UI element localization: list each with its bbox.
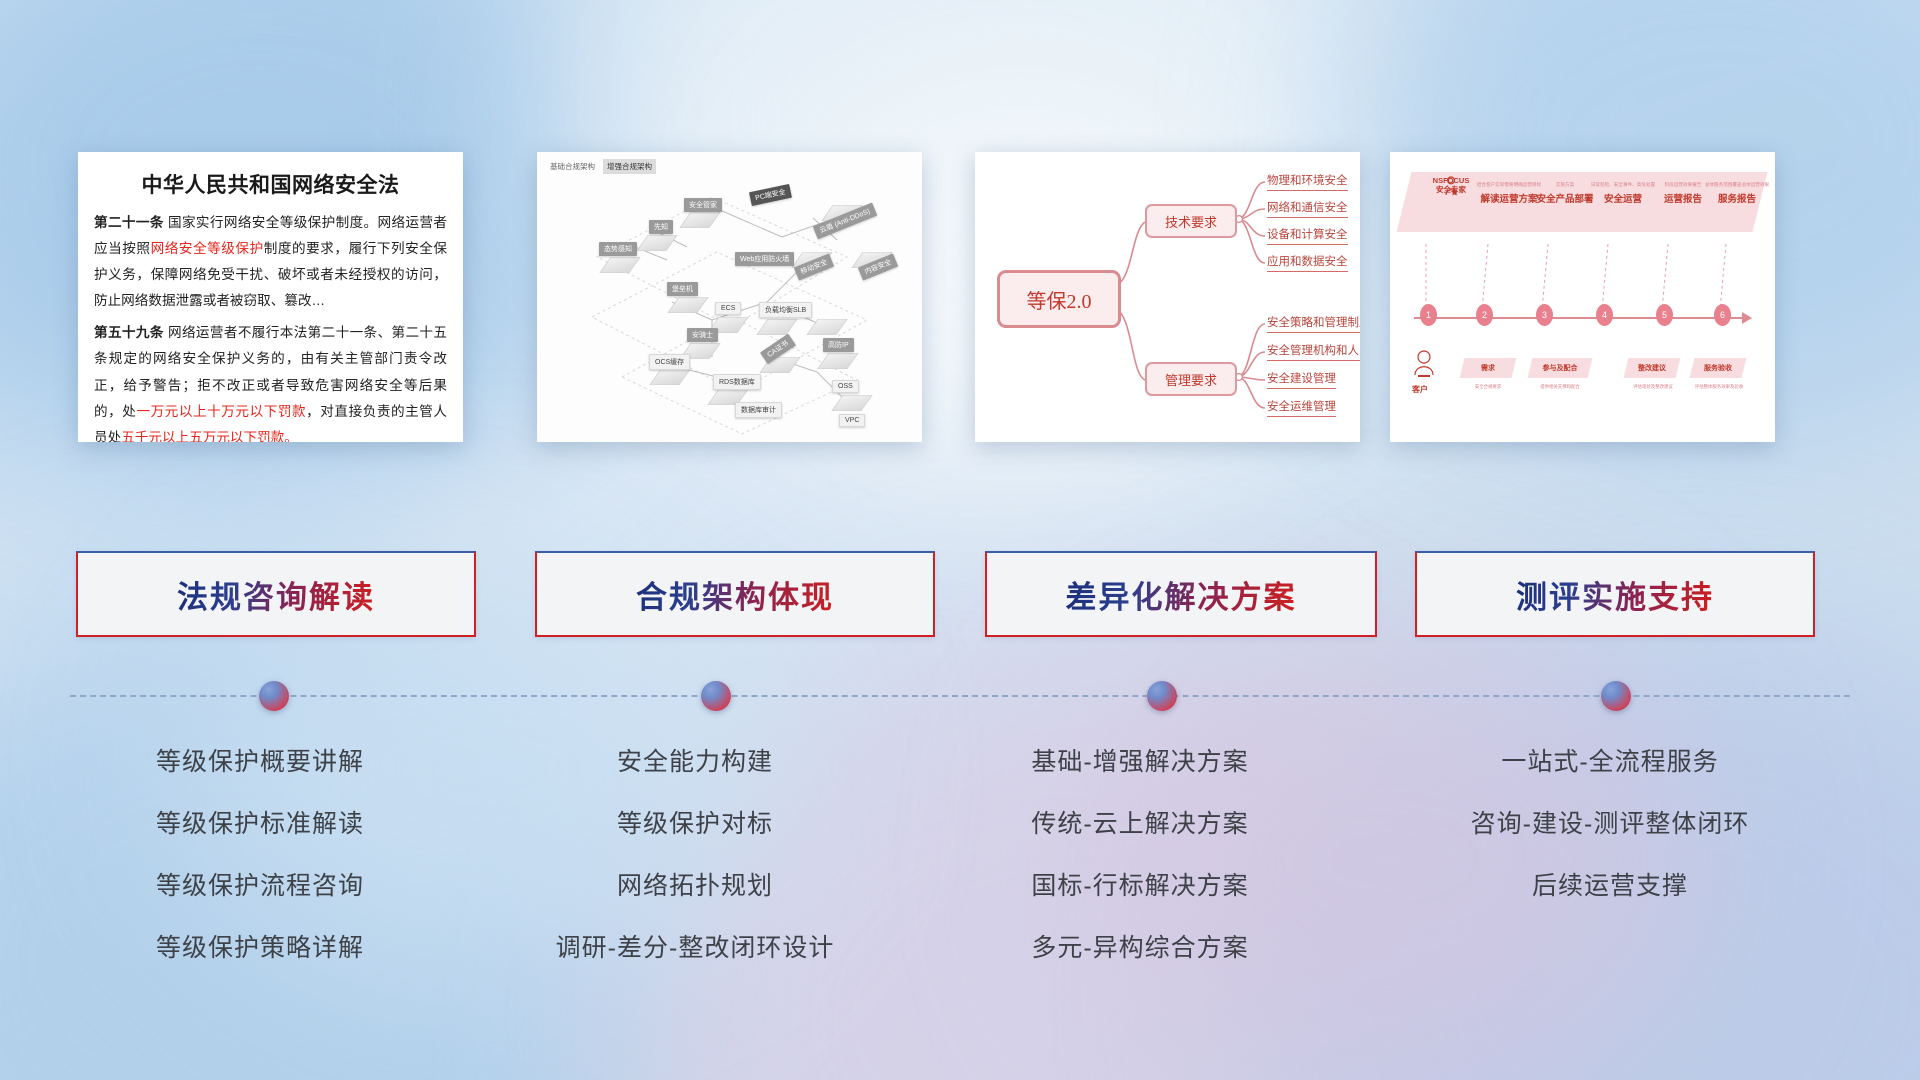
section-item: 多元-异构综合方案 <box>930 928 1350 964</box>
section-item: 等级保护概要讲解 <box>60 742 460 778</box>
section-items-4: 一站式-全流程服务 咨询-建设-测评整体闭环 后续运营支撑 <box>1400 742 1820 928</box>
section-item: 一站式-全流程服务 <box>1400 742 1820 778</box>
section-items-2: 安全能力构建 等级保护对标 网络拓扑规划 调研-差分-整改闭环设计 <box>490 742 900 990</box>
section-item: 咨询-建设-测评整体闭环 <box>1400 804 1820 840</box>
section-headings: 法规咨询解读 合规架构体现 差异化解决方案 测评实施支持 等级保护概要讲解 等级… <box>0 0 1920 1080</box>
timeline-node-3 <box>1147 681 1177 711</box>
section-heading-1-label: 法规咨询解读 <box>177 572 375 617</box>
section-item: 等级保护流程咨询 <box>60 866 460 902</box>
section-item: 传统-云上解决方案 <box>930 804 1350 840</box>
section-items-1: 等级保护概要讲解 等级保护标准解读 等级保护流程咨询 等级保护策略详解 <box>60 742 460 990</box>
section-heading-3-label: 差异化解决方案 <box>1066 572 1297 617</box>
timeline-node-2 <box>701 681 731 711</box>
section-heading-3[interactable]: 差异化解决方案 <box>985 551 1377 637</box>
section-heading-2[interactable]: 合规架构体现 <box>535 551 935 637</box>
section-item: 等级保护标准解读 <box>60 804 460 840</box>
section-heading-4[interactable]: 测评实施支持 <box>1415 551 1815 637</box>
section-heading-1[interactable]: 法规咨询解读 <box>76 551 476 637</box>
section-heading-4-label: 测评实施支持 <box>1516 572 1714 617</box>
timeline-node-4 <box>1601 681 1631 711</box>
section-item: 安全能力构建 <box>490 742 900 778</box>
section-heading-2-label: 合规架构体现 <box>636 572 834 617</box>
section-item: 基础-增强解决方案 <box>930 742 1350 778</box>
section-items-3: 基础-增强解决方案 传统-云上解决方案 国标-行标解决方案 多元-异构综合方案 <box>930 742 1350 990</box>
section-item: 调研-差分-整改闭环设计 <box>490 928 900 964</box>
section-item: 等级保护对标 <box>490 804 900 840</box>
timeline-rail <box>70 695 1850 697</box>
section-item: 后续运营支撑 <box>1400 866 1820 902</box>
section-item: 国标-行标解决方案 <box>930 866 1350 902</box>
section-item: 等级保护策略详解 <box>60 928 460 964</box>
timeline-node-1 <box>259 681 289 711</box>
section-item: 网络拓扑规划 <box>490 866 900 902</box>
